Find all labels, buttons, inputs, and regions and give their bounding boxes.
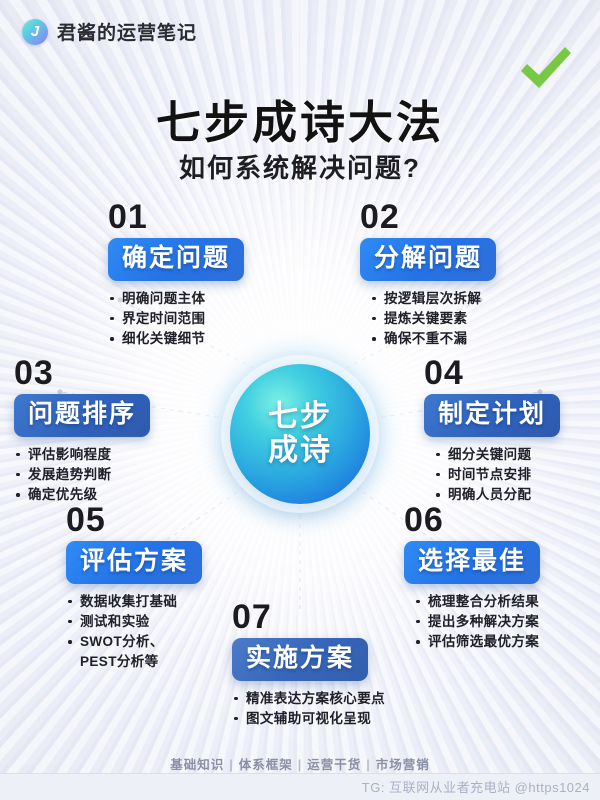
step-bullets: 按逻辑层次拆解 提炼关键要素 确保不重不漏 <box>370 289 496 350</box>
step-06[interactable]: 06 选择最佳 梳理整合分析结果 提出多种解决方案 评估筛选最优方案 <box>404 503 540 652</box>
step-number: 03 <box>14 356 150 390</box>
bullet-item: 发展趋势判断 <box>14 465 150 485</box>
bullet-item: 界定时间范围 <box>108 309 244 329</box>
bullet-item: 提炼关键要素 <box>370 309 496 329</box>
step-label[interactable]: 选择最佳 <box>404 541 540 584</box>
step-07[interactable]: 07 实施方案 精准表达方案核心要点 图文辅助可视化呈现 <box>232 600 385 729</box>
step-label[interactable]: 制定计划 <box>424 394 560 437</box>
bullet-item: 明确问题主体 <box>108 289 244 309</box>
brand-name: 君酱的运营笔记 <box>57 18 197 45</box>
brand: J 君酱的运营笔记 <box>22 18 197 45</box>
bullet-item: 提出多种解决方案 <box>414 612 540 632</box>
bullet-item: 数据收集打基础 <box>66 592 202 612</box>
bullet-item: 梳理整合分析结果 <box>414 592 540 612</box>
footer-tag[interactable]: 基础知识 <box>165 758 229 772</box>
step-label[interactable]: 评估方案 <box>66 541 202 584</box>
step-bullets: 梳理整合分析结果 提出多种解决方案 评估筛选最优方案 <box>414 592 540 653</box>
bullet-item: 评估影响程度 <box>14 445 150 465</box>
step-05[interactable]: 05 评估方案 数据收集打基础 测试和实验 SWOT分析、 PEST分析等 <box>66 503 202 673</box>
green-checkmark-icon <box>516 44 574 92</box>
step-number: 02 <box>360 200 496 234</box>
step-number: 06 <box>404 503 540 537</box>
footer-tags: 基础知识|体系框架|运营干货|市场营销 <box>0 754 600 773</box>
step-02[interactable]: 02 分解问题 按逻辑层次拆解 提炼关键要素 确保不重不漏 <box>360 200 496 349</box>
step-number: 05 <box>66 503 202 537</box>
bullet-item: 测试和实验 <box>66 612 202 632</box>
bullet-item: 细分关键问题 <box>434 445 560 465</box>
watermark: TG: 互联网从业者充电站 @https1024 <box>362 777 590 796</box>
bullet-item: 时间节点安排 <box>434 465 560 485</box>
step-03[interactable]: 03 问题排序 评估影响程度 发展趋势判断 确定优先级 <box>14 356 150 505</box>
center-hub: 七步 成诗 <box>230 364 370 504</box>
bullet-item: 评估筛选最优方案 <box>414 632 540 652</box>
bullet-item: 确保不重不漏 <box>370 329 496 349</box>
step-bullets: 数据收集打基础 测试和实验 SWOT分析、 PEST分析等 <box>66 592 202 673</box>
step-bullets: 评估影响程度 发展趋势判断 确定优先级 <box>14 445 150 506</box>
hub-line-1: 七步 <box>268 400 332 434</box>
step-label[interactable]: 问题排序 <box>14 394 150 437</box>
step-number: 01 <box>108 200 244 234</box>
step-bullets: 明确问题主体 界定时间范围 细化关键细节 <box>108 289 244 350</box>
footer-tag[interactable]: 市场营销 <box>371 758 435 772</box>
bullet-item: 细化关键细节 <box>108 329 244 349</box>
hub-line-2: 成诗 <box>268 434 332 468</box>
music-note-circle-icon: J <box>22 19 48 45</box>
step-01[interactable]: 01 确定问题 明确问题主体 界定时间范围 细化关键细节 <box>108 200 244 349</box>
infographic-poster: J 君酱的运营笔记 七步成诗大法 如何系统解决问题? 七步 成诗 01 确定问题… <box>0 0 600 800</box>
step-label[interactable]: 分解问题 <box>360 238 496 281</box>
step-label[interactable]: 实施方案 <box>232 638 368 681</box>
step-bullets: 精准表达方案核心要点 图文辅助可视化呈现 <box>232 689 385 730</box>
page-title: 七步成诗大法 <box>0 86 600 151</box>
step-number: 04 <box>424 356 560 390</box>
bullet-item: 图文辅助可视化呈现 <box>232 709 385 729</box>
page-subtitle: 如何系统解决问题? <box>0 148 600 185</box>
footer-tag[interactable]: 运营干货 <box>302 758 366 772</box>
step-label[interactable]: 确定问题 <box>108 238 244 281</box>
step-bullets: 细分关键问题 时间节点安排 明确人员分配 <box>434 445 560 506</box>
bullet-item: SWOT分析、 PEST分析等 <box>66 632 202 673</box>
step-04[interactable]: 04 制定计划 细分关键问题 时间节点安排 明确人员分配 <box>424 356 560 505</box>
footer-tag[interactable]: 体系框架 <box>234 758 298 772</box>
bullet-item: 精准表达方案核心要点 <box>232 689 385 709</box>
bullet-item: 按逻辑层次拆解 <box>370 289 496 309</box>
step-number: 07 <box>232 600 385 634</box>
